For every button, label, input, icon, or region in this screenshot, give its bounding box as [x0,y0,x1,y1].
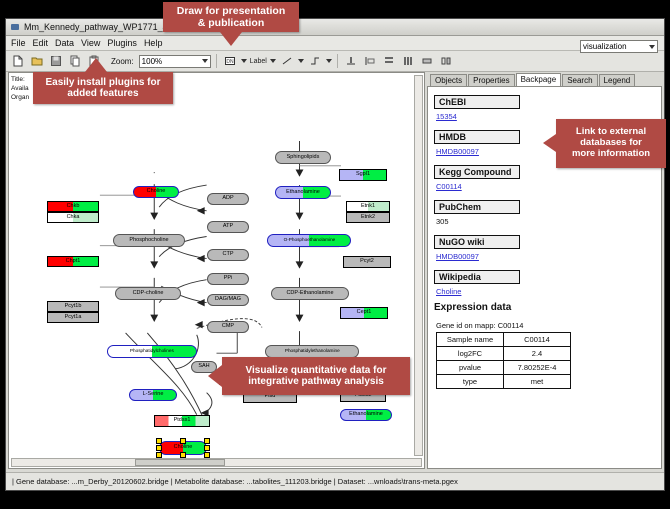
datanode-chevron-icon[interactable] [241,59,247,63]
callout-draw-arrow-icon [220,32,242,46]
visualization-chevron-icon [649,45,655,49]
db-header-wikipedia: Wikipedia [434,270,520,284]
zoom-label: Zoom: [111,57,134,66]
menu-item-plugins[interactable]: Plugins [107,38,137,48]
zoom-value: 100% [142,57,162,66]
metabolite-label-choline-top: Choline [147,189,166,195]
label-tool-label[interactable]: Label [250,58,267,65]
metabolite-node-cmp[interactable]: CMP [207,321,249,333]
metabolite-node-ppi[interactable]: PPi [207,273,249,285]
canvas-hscrollbar[interactable] [11,458,422,467]
callout-link-line3: more information [572,149,650,160]
chevron-down-icon [202,59,208,63]
metabolite-label-l-serine-left: L-Serine [143,392,164,398]
datanode-icon[interactable]: DN [222,53,238,69]
expr-key-log2fc: log2FC [437,347,504,361]
gene-node-pcyt2[interactable]: Pcyt2 [343,256,391,268]
metabolite-label-ppi: PPi [224,276,233,282]
metabolite-label-phosphatidylethanolamine: Phosphatidylethanolamine [285,349,340,354]
callout-plugins-line1: Easily install plugins for [45,77,160,89]
gene-node-ptdss1[interactable]: Ptdss1 [154,415,210,427]
toolbar-divider-2 [337,54,338,68]
metabolite-node-ethanolamine-bottom[interactable]: Ethanolamine [340,409,392,421]
metabolite-label-cmp: CMP [222,324,234,330]
menu-item-file[interactable]: File [11,38,26,48]
menu-item-edit[interactable]: Edit [33,38,49,48]
metabolite-label-choline-selected: Choline [174,445,193,451]
callout-visualize: Visualize quantitative data for integrat… [222,357,410,395]
selection-handle[interactable] [180,438,186,444]
metabolite-node-choline-top[interactable]: Choline [133,186,179,198]
title-bar: Mm_Kennedy_pathway_WP1771_45176.gpml [6,19,664,36]
expr-value-pvalue: 7.80252E-4 [504,361,571,375]
callout-link: Link to external databases for more info… [556,119,666,168]
gene-node-cept1[interactable]: Cept1 [340,307,388,319]
metabolite-label-sphingolipids: Sphingolipids [287,155,320,161]
db-header-pubchem: PubChem [434,200,520,214]
metabolite-label-cdp-ethanolamine: CDP-Ethanolamine [286,291,333,297]
zoom-combobox[interactable]: 100% [139,55,211,68]
metabolite-label-ctp: CTP [223,252,234,258]
expr-key-type: type [437,375,504,389]
callout-draw: Draw for presentation & publication [163,2,299,32]
tab-backpage[interactable]: Backpage [516,73,562,86]
metabolite-label-dag-mag: DAG/MAG [215,297,241,303]
metabolite-label-adp: ADP [222,196,233,202]
status-bar: | Gene database: ...m_Derby_20120602.bri… [6,472,664,490]
gene-label-pcyt1a: Pcyt1a [65,315,82,321]
metabolite-node-cdp-choline[interactable]: CDP-choline [115,287,181,300]
metabolite-label-ethanolamine-bottom: Ethanolamine [349,412,383,418]
gene-node-chka[interactable]: Chka [47,212,99,223]
callout-draw-line2: & publication [177,17,286,29]
table-row: log2FC 2.4 [437,347,571,361]
gene-label-sgpl1: Sgpl1 [356,172,370,178]
visualization-combobox[interactable]: visualization [580,40,658,53]
table-row: type met [437,375,571,389]
meta-title-label: Title: [11,75,29,84]
svg-text:DN: DN [226,59,234,65]
callout-plugins-line2: added features [45,88,160,100]
align-left-icon[interactable] [362,53,378,69]
gene-label-cept1: Cept1 [357,310,372,316]
gene-label-chka: Chka [67,215,80,221]
callout-draw-line1: Draw for presentation [177,5,286,17]
canvas-meta-labels: Title: Availa Organ [11,75,29,102]
metabolite-node-dag-mag[interactable]: DAG/MAG [207,294,249,306]
expr-key-pvalue: pvalue [437,361,504,375]
metabolite-node-phosphocholine[interactable]: Phosphocholine [113,234,185,247]
metabolite-node-l-serine-left[interactable]: L-Serine [129,389,177,401]
metabolite-label-ophosphoethanolamine: O-Phosphoethanolamine [283,238,335,243]
gene-label-pcyt1b: Pcyt1b [65,304,82,310]
gene-node-sgpl1[interactable]: Sgpl1 [339,169,387,181]
gene-label-etnk2: Etnk2 [361,215,375,221]
gene-label-ptdss1: Ptdss1 [174,418,191,424]
expr-key-sample-name: Sample name [437,333,504,347]
canvas-vscrollbar[interactable] [414,75,423,456]
pathway-canvas[interactable]: Title: Availa Organ [8,72,425,469]
callout-plugins-arrow-icon [85,58,107,72]
toolbar-divider-1 [216,54,217,68]
callout-visualize-arrow-icon [208,365,222,387]
meta-organism-label: Organ [11,93,29,102]
metabolite-node-ethanolamine-top[interactable]: Ethanolamine [275,186,331,199]
db-header-chebi: ChEBI [434,95,520,109]
table-row: pvalue 7.80252E-4 [437,361,571,375]
copy-icon[interactable] [67,53,83,69]
tab-search[interactable]: Search [562,74,597,86]
stack-icon[interactable] [381,53,397,69]
expression-data-heading: Expression data [434,302,655,313]
gene-label-etnk1: Etnk1 [361,204,375,210]
db-link-wikipedia[interactable]: Choline [436,287,655,296]
expr-value-log2fc: 2.4 [504,347,571,361]
metabolite-node-ctp[interactable]: CTP [207,249,249,261]
metabolite-label-cdp-choline: CDP-choline [133,291,164,297]
sidebar-tabs: Objects Properties Backpage Search Legen… [427,72,662,86]
visualization-value: visualization [583,42,627,51]
db-header-nugo-wiki: NuGO wiki [434,235,520,249]
selection-handle[interactable] [156,438,162,444]
menu-bar: File Edit Data View Plugins Help [6,36,664,51]
gene-label-chpt1-left: Chpt1 [66,259,81,265]
gene-label-chkb: Chkb [67,204,80,210]
status-text: | Gene database: ...m_Derby_20120602.bri… [12,477,458,486]
gene-node-chpt1-left[interactable]: Chpt1 [47,256,99,267]
tab-properties[interactable]: Properties [468,74,514,86]
connector-icon[interactable] [307,53,323,69]
meta-available-label: Availa [11,84,29,93]
metabolite-label-atp: ATP [223,224,233,230]
metabolite-label-phosphatidylcholines: Phosphatidylcholines [130,349,174,354]
line-chevron-icon[interactable] [298,59,304,63]
metabolite-label-ethanolamine-top: Ethanolamine [286,190,320,196]
app-icon [10,22,20,32]
gene-id-on-mapp: Gene id on mapp: C00114 [436,321,655,330]
metabolite-node-adp[interactable]: ADP [207,193,249,205]
metabolite-label-phosphocholine: Phosphocholine [129,238,168,244]
metabolite-node-sphingolipids[interactable]: Sphingolipids [275,151,331,164]
selection-handle[interactable] [156,445,162,451]
db-header-kegg-compound: Kegg Compound [434,165,520,179]
save-icon[interactable] [48,53,64,69]
distribute-icon[interactable] [400,53,416,69]
expr-value-type: met [504,375,571,389]
db-header-hmdb: HMDB [434,130,520,144]
metabolite-node-cdp-ethanolamine[interactable]: CDP-Ethanolamine [271,287,349,300]
gene-node-chkb[interactable]: Chkb [47,201,99,212]
metabolite-node-ophosphoethanolamine[interactable]: O-Phosphoethanolamine [267,234,351,247]
table-row: Sample name C00114 [437,333,571,347]
open-folder-icon[interactable] [29,53,45,69]
ungroup-icon[interactable] [438,53,454,69]
align-top-icon[interactable] [343,53,359,69]
db-value-pubchem: 305 [436,217,655,226]
menu-item-help[interactable]: Help [144,38,163,48]
canvas-hscroll-thumb[interactable] [135,459,225,466]
menu-item-view[interactable]: View [81,38,100,48]
group-icon[interactable] [419,53,435,69]
db-link-kegg-compound[interactable]: C00114 [436,182,655,191]
expression-table: Sample name C00114 log2FC 2.4 pvalue 7.8… [436,332,571,389]
db-link-nugo-wiki[interactable]: HMDB00097 [436,252,655,261]
gene-node-etnk2[interactable]: Etnk2 [346,212,390,223]
tab-legend[interactable]: Legend [599,74,636,86]
callout-visualize-line2: integrative pathway analysis [246,376,387,388]
new-file-icon[interactable] [10,53,26,69]
connector-chevron-icon[interactable] [326,59,332,63]
tab-objects[interactable]: Objects [430,74,467,86]
metabolite-node-phosphatidylcholines[interactable]: Phosphatidylcholines [107,345,197,358]
expr-value-sample-name: C00114 [504,333,571,347]
menu-item-data[interactable]: Data [55,38,74,48]
gene-node-pcyt1a[interactable]: Pcyt1a [47,312,99,323]
selection-handle[interactable] [204,445,210,451]
gene-node-etnk1[interactable]: Etnk1 [346,201,390,212]
selection-handle[interactable] [204,438,210,444]
gene-node-pcyt1b[interactable]: Pcyt1b [47,301,99,312]
line-icon[interactable] [279,53,295,69]
metabolite-node-atp[interactable]: ATP [207,221,249,233]
callout-plugins: Easily install plugins for added feature… [33,72,173,104]
gene-label-pcyt2: Pcyt2 [360,259,374,265]
callout-link-arrow-icon [543,134,556,152]
label-chevron-icon[interactable] [270,59,276,63]
callout-visualize-line1: Visualize quantitative data for [246,365,387,377]
